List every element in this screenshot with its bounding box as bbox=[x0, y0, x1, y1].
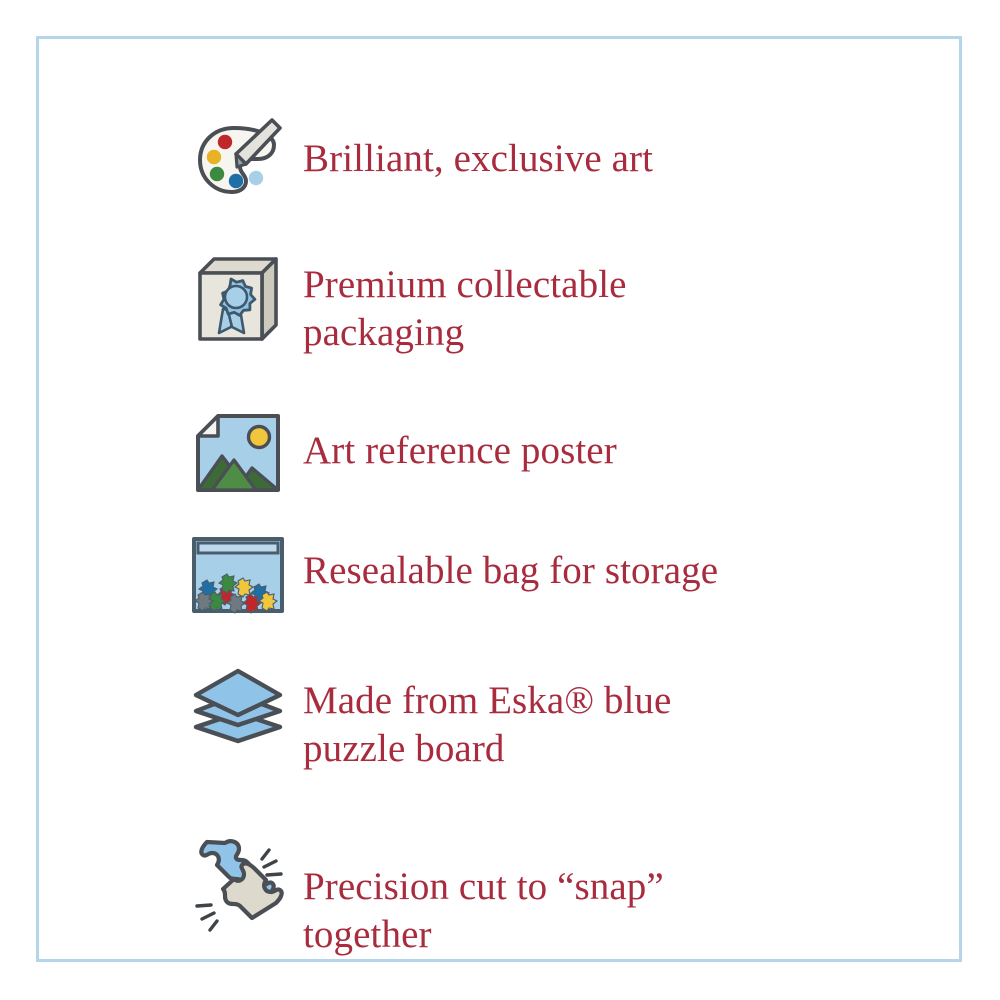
paint-palette-icon bbox=[179, 101, 297, 219]
stacked-board-icon bbox=[179, 653, 297, 783]
resealable-bag-icon bbox=[179, 521, 297, 629]
feature-item-eska-board: Made from Eska® blue puzzle board bbox=[179, 653, 919, 805]
feature-label: Precision cut to “snap” together bbox=[297, 827, 919, 959]
award-box-icon bbox=[179, 241, 297, 371]
feature-label: Resealable bag for storage bbox=[297, 521, 919, 595]
feature-item-resealable-bag: Resealable bag for storage bbox=[179, 521, 919, 639]
art-poster-icon bbox=[179, 399, 297, 509]
feature-item-brilliant-art: Brilliant, exclusive art bbox=[179, 101, 919, 219]
feature-item-premium-packaging: Premium collectable packaging bbox=[179, 241, 919, 391]
feature-card: Brilliant, exclusive art Premium collect… bbox=[36, 36, 962, 962]
puzzle-snap-icon bbox=[179, 827, 297, 973]
feature-label: Made from Eska® blue puzzle board bbox=[297, 653, 919, 773]
feature-item-art-poster: Art reference poster bbox=[179, 399, 919, 517]
feature-list: Brilliant, exclusive art Premium collect… bbox=[179, 101, 919, 977]
feature-label: Brilliant, exclusive art bbox=[297, 101, 919, 183]
feature-label: Art reference poster bbox=[297, 399, 919, 475]
feature-label: Premium collectable packaging bbox=[297, 241, 919, 357]
feature-item-precision-cut: Precision cut to “snap” together bbox=[179, 827, 919, 977]
